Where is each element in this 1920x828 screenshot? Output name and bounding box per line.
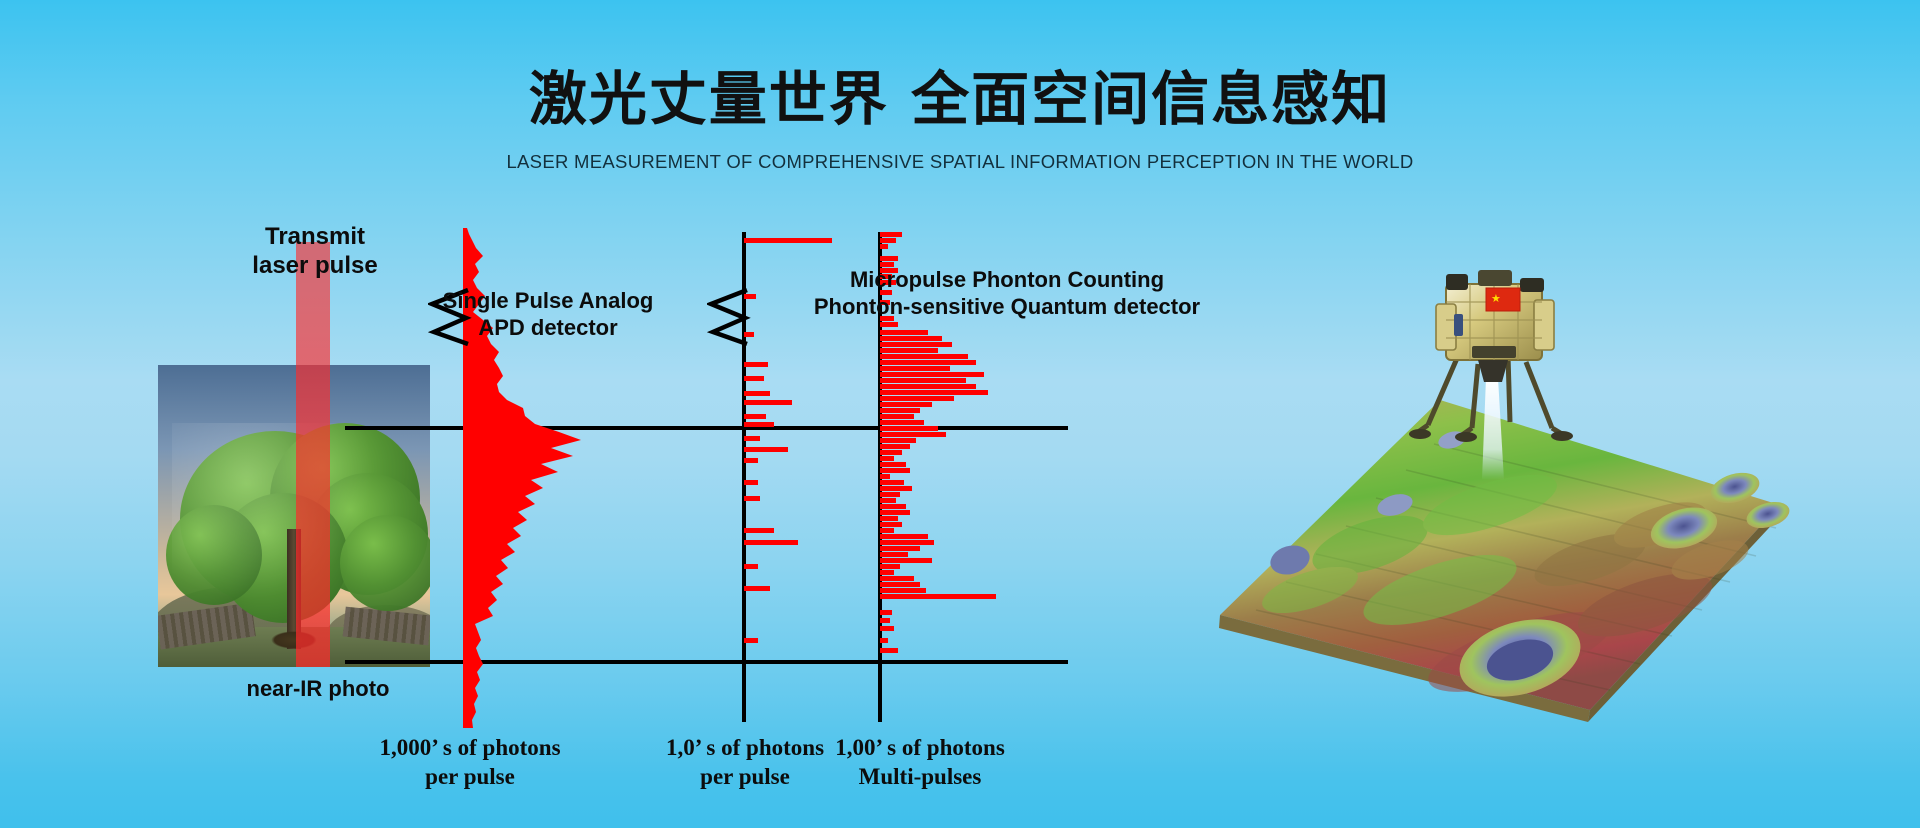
photon-count-bar: [880, 648, 898, 653]
photon-count-bar: [880, 384, 976, 389]
photon-count-bar: [880, 564, 900, 569]
photon-count-bar: [744, 447, 788, 452]
photon-count-bar: [880, 516, 898, 521]
photon-count-bar: [880, 528, 894, 533]
photon-count-bar: [880, 618, 890, 623]
photon-count-bar: [880, 390, 988, 395]
photon-count-bar: [744, 238, 832, 243]
photon-count-bar: [880, 626, 894, 631]
photon-count-bar: [744, 480, 758, 485]
photon-count-bar: [744, 376, 764, 381]
photon-count-bar: [880, 396, 954, 401]
photon-count-bar: [880, 486, 912, 491]
photon-count-bar: [880, 474, 890, 479]
near-ir-photo-label: near-IR photo: [188, 676, 448, 703]
poster-canvas: 激光丈量世界 全面空间信息感知 LASER MEASUREMENT OF COM…: [0, 0, 1920, 828]
photon-count-bar: [744, 458, 758, 463]
photon-count-bar: [880, 492, 900, 497]
lidar-terrain-visual: ★: [1190, 260, 1810, 730]
photon-count-bar: [744, 422, 774, 427]
photon-count-bar: [744, 400, 792, 405]
page-subtitle: LASER MEASUREMENT OF COMPREHENSIVE SPATI…: [0, 151, 1920, 173]
axis-break-zigzag-icon: [707, 288, 751, 346]
china-flag-icon: ★: [1486, 288, 1520, 311]
photon-count-bar: [880, 414, 914, 419]
photon-count-bar: [880, 456, 894, 461]
photon-count-bar: [880, 244, 888, 249]
photon-count-bar: [880, 402, 932, 407]
terrain-surface: [1219, 400, 1792, 722]
photon-count-bar: [744, 436, 760, 441]
photon-count-bar: [880, 378, 966, 383]
photon-count-bar: [880, 504, 906, 509]
photon-count-bar: [880, 558, 932, 563]
photon-count-bar: [744, 528, 774, 533]
photon-count-bar: [744, 638, 758, 643]
photon-count-bar: [880, 408, 920, 413]
photon-count-bar: [744, 564, 758, 569]
photon-count-bar: [880, 336, 942, 341]
photon-count-bar: [744, 586, 770, 591]
photon-count-bar: [880, 594, 996, 599]
svg-text:★: ★: [1491, 292, 1501, 305]
photon-count-bar: [880, 480, 904, 485]
photon-count-bar: [880, 432, 946, 437]
photon-count-bar: [744, 496, 760, 501]
photon-count-bar: [880, 438, 916, 443]
photon-count-bar: [880, 354, 968, 359]
photon-count-bar: [880, 510, 910, 515]
plot3-caption: 1,00’ s of photons Multi-pulses: [750, 733, 1090, 792]
near-ir-photo-image: [158, 365, 430, 667]
photon-count-bar: [880, 540, 934, 545]
photon-count-bar: [880, 360, 976, 365]
photon-count-bar: [744, 540, 798, 545]
photon-count-bar: [880, 366, 950, 371]
photon-count-bar: [880, 534, 928, 539]
page-title: 激光丈量世界 全面空间信息感知: [0, 52, 1920, 136]
photon-count-bar: [880, 420, 924, 425]
photon-count-bar: [744, 362, 768, 367]
photon-count-bar: [880, 330, 928, 335]
photon-count-bar: [880, 232, 902, 237]
photon-count-bar: [880, 610, 892, 615]
photon-count-bar: [880, 570, 894, 575]
photon-count-bar: [880, 238, 896, 243]
photon-count-bar: [880, 426, 938, 431]
photon-count-bar: [880, 372, 984, 377]
transmit-label: Transmit laser pulse: [210, 222, 420, 281]
photon-count-bar: [880, 588, 926, 593]
photon-count-bar: [880, 582, 920, 587]
photon-count-bar: [744, 391, 770, 396]
apd-detector-label: Single Pulse Analog APD detector: [398, 288, 698, 342]
photon-count-bar: [880, 576, 914, 581]
photon-count-bar: [880, 450, 902, 455]
photon-count-bar: [880, 342, 952, 347]
photon-count-bar: [880, 638, 888, 643]
photon-count-bar: [744, 414, 766, 419]
photon-count-bar: [880, 546, 920, 551]
photon-count-bar: [880, 256, 898, 261]
photon-count-bar: [880, 522, 902, 527]
photon-count-bar: [880, 462, 906, 467]
laser-beam-icon: [296, 242, 330, 667]
photon-count-bar: [880, 348, 938, 353]
photon-count-bar: [880, 498, 896, 503]
photon-count-bar: [880, 468, 910, 473]
photon-count-bar: [880, 444, 910, 449]
photon-count-bar: [880, 552, 908, 557]
photon-count-bar: [880, 322, 898, 327]
lidar-beam: [1482, 378, 1504, 480]
micropulse-detector-label: Micropulse Phonton Counting Phonton-sens…: [772, 267, 1242, 321]
